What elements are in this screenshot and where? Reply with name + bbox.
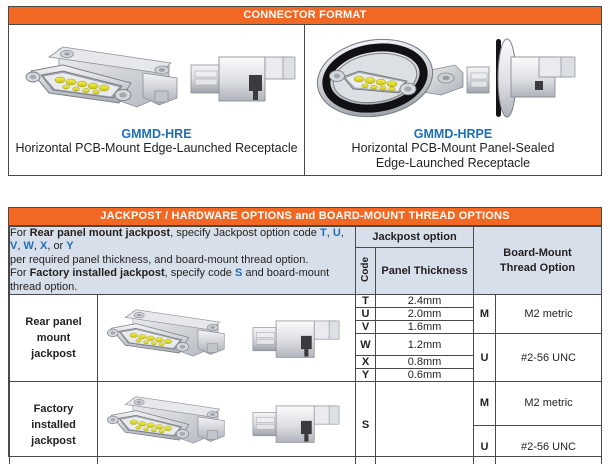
- connector-format-body: GMMD-HRE Horizontal PCB-Mount Edge-Launc…: [9, 25, 601, 176]
- jackpost-options-table: For Rear panel mount jackpost, specify J…: [9, 226, 602, 464]
- instruction-line-3: For Factory installed jackpost, specify …: [10, 267, 355, 294]
- row-label-rear-panel-mount: Rear panel mount jackpost: [10, 295, 98, 382]
- panel-thickness: 2.4mm: [376, 295, 474, 308]
- micro-d-connector-isometric-icon: [19, 35, 187, 127]
- micro-d-connector-flange-side-view-icon: [465, 33, 585, 125]
- thread-code: M: [474, 382, 496, 426]
- connector-format-item-hre: GMMD-HRE Horizontal PCB-Mount Edge-Launc…: [9, 25, 305, 176]
- jackpost-code: V: [356, 321, 376, 334]
- jackpost-code: U: [356, 308, 376, 321]
- panel-thickness: [376, 382, 474, 464]
- column-header-code: Code: [356, 247, 376, 294]
- column-header-jackpost-option: Jackpost option: [356, 227, 474, 248]
- thread-code: U: [474, 334, 496, 382]
- connector-format-header: CONNECTOR FORMAT: [9, 7, 601, 25]
- board-mount-thread-line1: Board-Mount: [474, 246, 601, 261]
- row-artwork-factory-installed: [98, 382, 356, 464]
- micro-d-connector-panel-sealed-isometric-icon: [313, 31, 479, 127]
- connector-format-panel: CONNECTOR FORMAT: [8, 6, 602, 176]
- jackpost-code: T: [356, 295, 376, 308]
- part-description-hrpe-line2: Edge-Launched Receptacle: [370, 156, 536, 171]
- jackpost-code: S: [356, 382, 376, 464]
- row-label-line2: mount: [10, 330, 97, 346]
- row-label-line1: Factory: [10, 401, 97, 417]
- thread-name: #2-56 UNC: [496, 334, 602, 382]
- thread-name: #2-56 UNC: [496, 425, 602, 464]
- connector-format-item-hrpe: GMMD-HRPE Horizontal PCB-Mount Panel-Sea…: [305, 25, 601, 176]
- part-number-hre: GMMD-HRE: [121, 127, 191, 141]
- thread-name: M2 metric: [496, 295, 602, 334]
- jackpost-code: Y: [356, 369, 376, 382]
- column-header-board-mount-thread: Board-Mount Thread Option: [474, 227, 602, 295]
- instruction-line-1: For Rear panel mount jackpost, specify J…: [10, 227, 355, 254]
- table-row: Rear panel mount jackpost: [10, 295, 602, 308]
- table-header-row-1: For Rear panel mount jackpost, specify J…: [10, 227, 602, 248]
- connector-art-hrpe: [305, 29, 601, 125]
- row-label-factory-installed: Factory installed jackpost: [10, 382, 98, 464]
- part-number-hrpe: GMMD-HRPE: [414, 127, 492, 141]
- jackpost-code: W: [356, 334, 376, 356]
- jackpost-options-panel: JACKPOST / HARDWARE OPTIONS and BOARD-MO…: [8, 207, 602, 457]
- thread-code: U: [474, 425, 496, 464]
- jackpost-options-header: JACKPOST / HARDWARE OPTIONS and BOARD-MO…: [9, 208, 601, 226]
- row-label-line3: jackpost: [10, 346, 97, 362]
- instruction-line-2: per required panel thickness, and board-…: [10, 254, 355, 267]
- connector-art-hre: [9, 29, 304, 125]
- row-label-line1: Rear panel: [10, 314, 97, 330]
- micro-d-connector-side-view-icon: [187, 45, 299, 115]
- row-label-line2: installed: [10, 417, 97, 433]
- panel-thickness: 2.0mm: [376, 308, 474, 321]
- micro-d-connector-isometric-icon: [102, 386, 232, 460]
- panel-thickness: 0.6mm: [376, 369, 474, 382]
- panel-thickness: 1.6mm: [376, 321, 474, 334]
- micro-d-connector-side-view-icon: [246, 311, 346, 369]
- datasheet-page: CONNECTOR FORMAT: [0, 0, 610, 464]
- panel-thickness: 1.2mm: [376, 334, 474, 356]
- thread-code: M: [474, 295, 496, 334]
- part-description-hre: Horizontal PCB-Mount Edge-Launched Recep…: [9, 141, 303, 156]
- panel-thickness: 0.8mm: [376, 356, 474, 369]
- jackpost-instructions-cell: For Rear panel mount jackpost, specify J…: [10, 227, 356, 295]
- column-header-code-label: Code: [360, 257, 371, 282]
- board-mount-thread-line2: Thread Option: [474, 261, 601, 276]
- table-row: Factory installed jackpost: [10, 382, 602, 426]
- column-header-panel-thickness: Panel Thickness: [376, 247, 474, 294]
- micro-d-connector-isometric-icon: [102, 299, 232, 373]
- part-description-hrpe-line1: Horizontal PCB-Mount Panel-Sealed: [346, 141, 561, 156]
- thread-name: M2 metric: [496, 382, 602, 426]
- micro-d-connector-side-view-icon: [246, 396, 346, 454]
- jackpost-code: X: [356, 356, 376, 369]
- row-artwork-rear-panel-mount: [98, 295, 356, 382]
- row-label-line3: jackpost: [10, 433, 97, 449]
